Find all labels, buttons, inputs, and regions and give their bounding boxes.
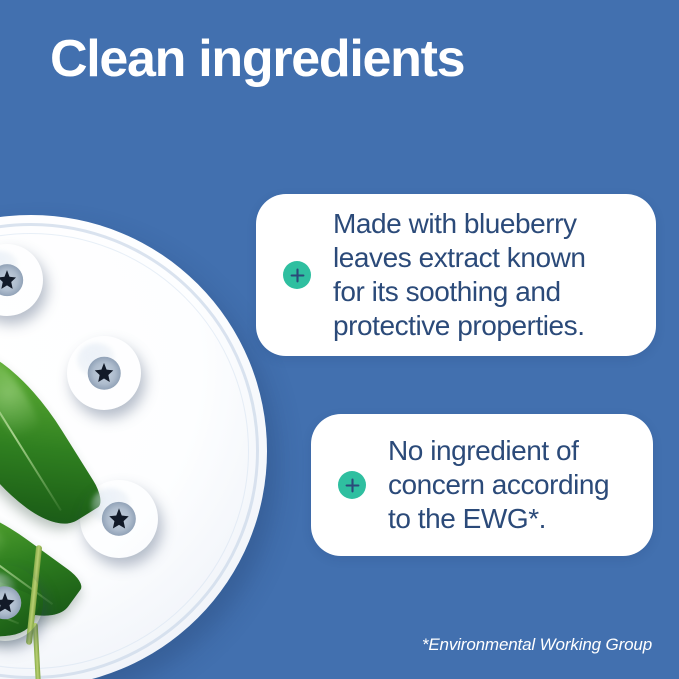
berry-star <box>0 592 16 615</box>
berry-star <box>93 362 115 384</box>
plus-icon <box>338 471 366 499</box>
clean-ingredients-poster: Clean ingredients <box>0 0 679 679</box>
feature-card-1: Made with blueberry leaves extract known… <box>256 194 656 356</box>
footnote: *Environmental Working Group <box>422 635 652 655</box>
plus-icon <box>283 261 311 289</box>
feature-card-2: No ingredient of concern according to th… <box>311 414 653 556</box>
page-title: Clean ingredients <box>50 30 464 88</box>
blueberry-plate-photo <box>0 215 267 679</box>
berry-star <box>107 507 130 530</box>
feature-card-1-text: Made with blueberry leaves extract known… <box>333 207 585 343</box>
feature-card-2-text: No ingredient of concern according to th… <box>388 434 609 536</box>
blueberry <box>80 480 158 558</box>
blueberry <box>67 336 141 410</box>
